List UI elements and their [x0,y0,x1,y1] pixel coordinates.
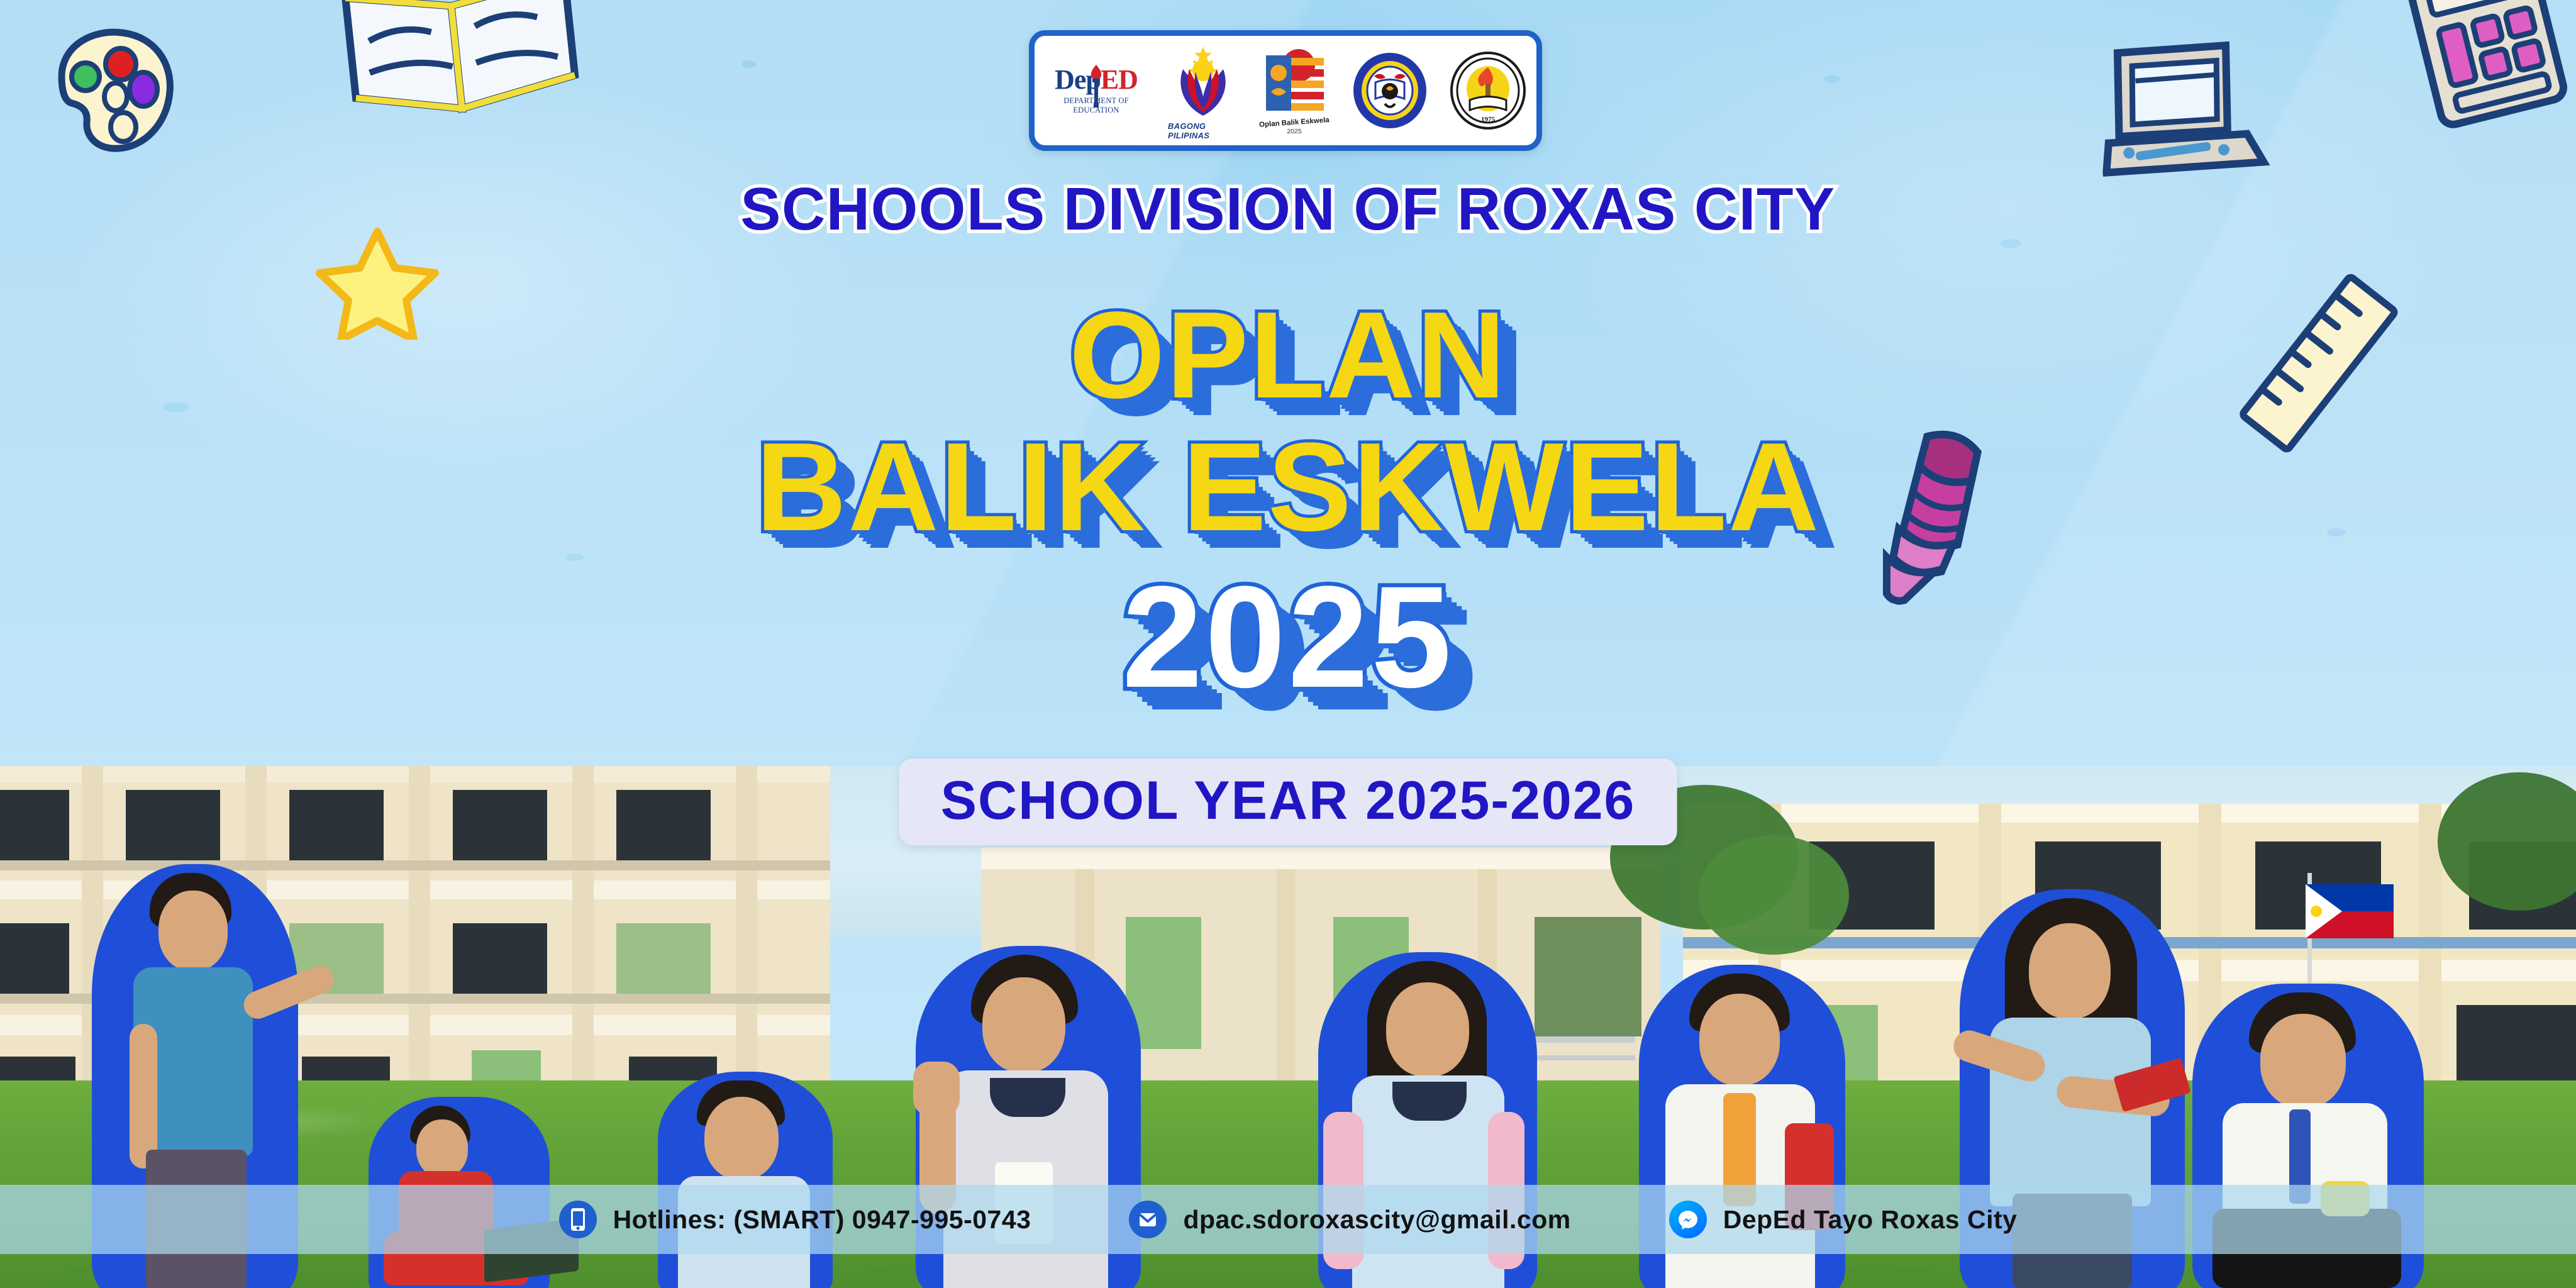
messenger-icon [1669,1201,1707,1238]
headline-year: 2025 [0,553,2576,720]
contact-hotline[interactable]: Hotlines: (SMART) 0947-995-0743 [510,1201,1080,1238]
obe-emblem [1257,47,1331,117]
page-title: SCHOOLS DIVISION OF ROXAS CITY [0,175,2576,244]
bagong-pilipinas-logo: BAGONG PILIPINAS [1168,42,1238,140]
roxas-city-seal-graphic: 1975 [1448,51,1528,130]
deped-region-6-seal [1350,51,1430,130]
contact-email[interactable]: dpac.sdoroxascity@gmail.com [1080,1201,1619,1238]
open-book-doodle [319,0,606,152]
paint-palette-doodle [38,19,189,164]
contact-email-label: dpac.sdoroxascity@gmail.com [1183,1205,1570,1235]
division-of-roxas-city-seal: 1975 [1448,51,1528,130]
headline-oplan: OPLAN [0,284,2576,426]
bagong-pilipinas-subtitle: BAGONG PILIPINAS [1168,121,1238,140]
school-year-badge: SCHOOL YEAR 2025-2026 [899,758,1677,845]
bagong-pilipinas-emblem [1168,42,1238,119]
deped-logo: DepED DEPARTMENT OF EDUCATION [1043,66,1149,115]
tree [1698,835,1849,955]
calculator-doodle [2382,0,2576,150]
contact-strip: Hotlines: (SMART) 0947-995-0743 dpac.sdo… [0,1185,2576,1254]
oplan-balik-eskwela-logo: Oplan Balik Eskwela 2025 [1257,47,1331,135]
contact-hotline-label: Hotlines: (SMART) 0947-995-0743 [613,1205,1031,1235]
philippine-flag [2306,884,2394,938]
logo-bar: DepED DEPARTMENT OF EDUCATION BAGONG PIL… [1029,30,1542,151]
deped-ed-text: ED [1101,64,1138,95]
seal-year: 1975 [1481,116,1496,123]
obe-year: 2025 [1287,128,1301,135]
phone-icon [559,1201,597,1238]
obe-subtitle: Oplan Balik Eskwela [1259,116,1330,129]
envelope-icon [1129,1201,1167,1238]
torch-icon [1087,64,1106,109]
contact-facebook[interactable]: DepEd Tayo Roxas City [1620,1201,2067,1238]
school-year-badge-label: SCHOOL YEAR 2025-2026 [941,770,1636,831]
contact-facebook-label: DepEd Tayo Roxas City [1723,1205,2018,1235]
oplan-balik-eskwela-banner: DepED DEPARTMENT OF EDUCATION BAGONG PIL… [0,0,2576,1288]
young-boy-foreground [667,1080,824,1288]
region-6-seal-graphic [1350,51,1430,130]
headline-balik-eskwela: BALIK ESKWELA [0,415,2576,560]
